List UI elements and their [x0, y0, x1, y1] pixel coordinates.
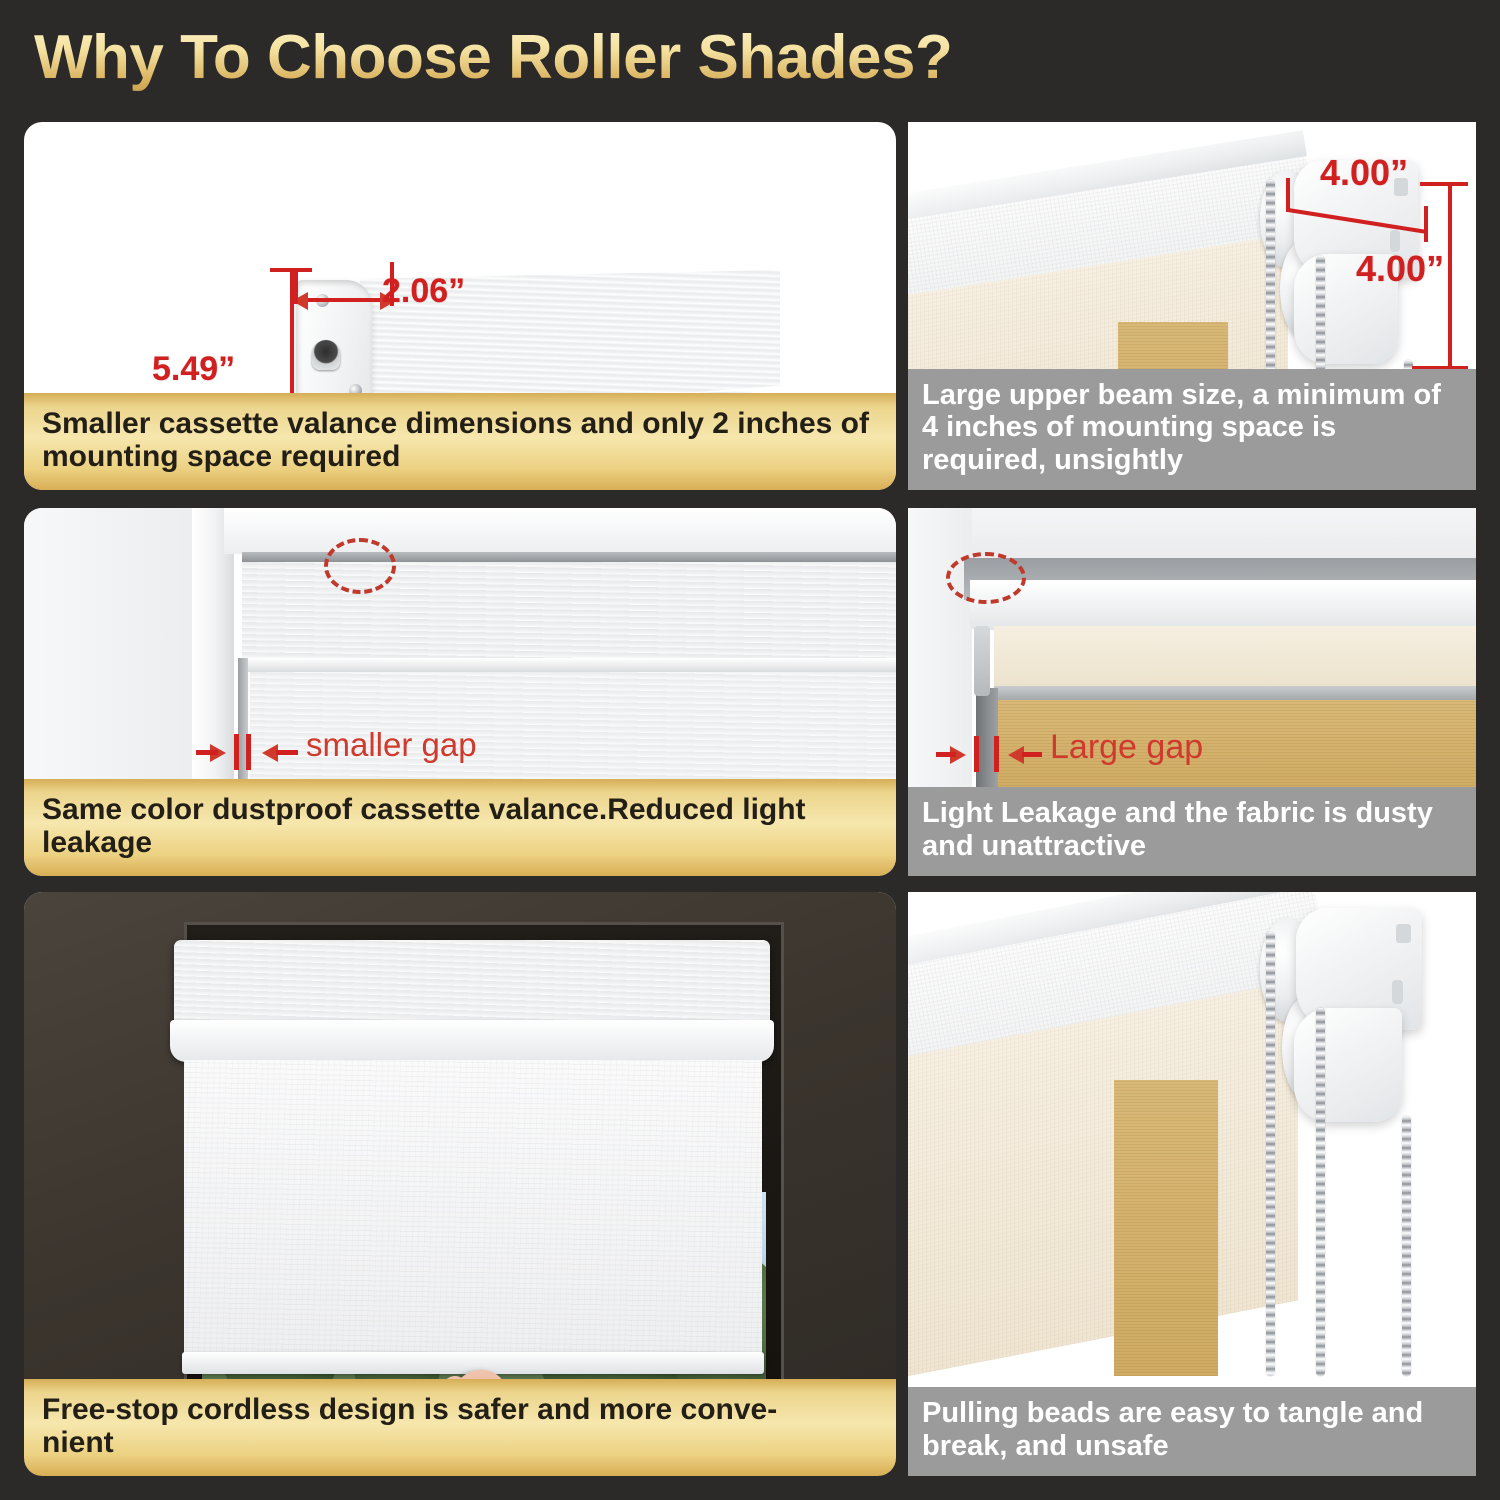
panel-large-upper-beam: 4.00” 4.00” Large upper beam size, a min…	[908, 122, 1476, 490]
roller-shade-fabric	[184, 1060, 762, 1358]
beam-height-tick-top	[1420, 182, 1468, 186]
caption-line-1: Free-stop cordless design is safer and m…	[42, 1393, 777, 1426]
large-gap-stem-left	[936, 752, 956, 757]
cream-fabric-band	[994, 626, 1476, 688]
large-gap-tick-b	[994, 736, 999, 772]
beam-width-tick-left	[1286, 178, 1290, 212]
panel-smaller-cassette-valance: 2.06” 5.49” Smaller cassette valance dim…	[24, 122, 896, 490]
depth-dimension-label: 2.06”	[382, 272, 465, 311]
bracket-slot-2-icon	[1392, 980, 1403, 1004]
panel-dustproof-cassette-valance: smaller gap Same color dustproof cassett…	[24, 508, 896, 876]
bead-chain-right	[1402, 1116, 1411, 1376]
panel-pulling-beads-tangle: Pulling beads are easy to tangle and bre…	[908, 892, 1476, 1476]
caption-free-stop-cordless-design: Free-stop cordless design is safer and m…	[24, 1379, 896, 1476]
infographic-page: Why To Choose Roller Shades? 2.06”	[0, 0, 1500, 1500]
cassette-valance-head	[174, 940, 770, 1024]
beam-height-dimension-label: 4.00”	[1356, 248, 1444, 290]
depth-dimension-tick-left	[294, 270, 298, 304]
bead-chain-middle	[1316, 1008, 1325, 1376]
smaller-gap-label: smaller gap	[306, 726, 477, 764]
panel-light-leakage-dusty-fabric: Large gap Light Leakage and the fabric i…	[908, 508, 1476, 876]
caption-smaller-cassette-valance: Smaller cassette valance dimensions and …	[24, 393, 896, 490]
smaller-gap-stem-left	[196, 750, 218, 755]
fabric-edge-rail	[994, 686, 1476, 700]
highlight-circle	[946, 552, 1026, 604]
mounting-bracket-lower	[1294, 1008, 1402, 1122]
highlight-circle	[324, 538, 396, 594]
smaller-gap-stem-right	[276, 750, 298, 755]
bracket-slot-1-icon	[1396, 924, 1411, 943]
smaller-gap-tick-b	[246, 734, 251, 770]
bracket-clip	[974, 626, 990, 696]
height-dimension-tick-top	[270, 268, 312, 272]
beam-width-tick-right	[1424, 206, 1428, 242]
large-gap-label: Large gap	[1050, 728, 1203, 767]
beam-height-dimension-line	[1448, 184, 1452, 370]
window-frame-wall	[24, 508, 204, 798]
caption-light-leakage-dusty-fabric: Light Leakage and the fabric is dusty an…	[908, 787, 1476, 876]
cassette-valance-lip	[170, 1020, 774, 1062]
shade-side-gap-shadow	[238, 658, 248, 798]
caption-pulling-beads-tangle: Pulling beads are easy to tangle and bre…	[908, 1387, 1476, 1476]
smaller-gap-tick-a	[234, 734, 239, 770]
height-dimension-label: 5.49”	[152, 350, 235, 389]
bead-chain-left	[1266, 932, 1275, 1376]
caption-large-upper-beam: Large upper beam size, a minimum of 4 in…	[908, 369, 1476, 490]
window-frame-header	[224, 508, 896, 554]
caption-line-2: nient	[42, 1426, 114, 1459]
large-gap-stem-right	[1022, 752, 1042, 757]
large-gap-tick-a	[974, 736, 979, 772]
tan-backing-fabric	[1114, 1080, 1218, 1376]
roller-beam	[970, 580, 1476, 630]
panel-free-stop-cordless-design: Free-stop cordless design is safer and m…	[24, 892, 896, 1476]
caption-dustproof-cassette-valance: Same color dustproof cassette valance.Re…	[24, 779, 896, 876]
comparison-grid: 2.06” 5.49” Smaller cassette valance dim…	[0, 0, 1500, 1500]
valance-bottom-rail	[242, 658, 896, 672]
beam-width-dimension-label: 4.00”	[1320, 152, 1408, 194]
